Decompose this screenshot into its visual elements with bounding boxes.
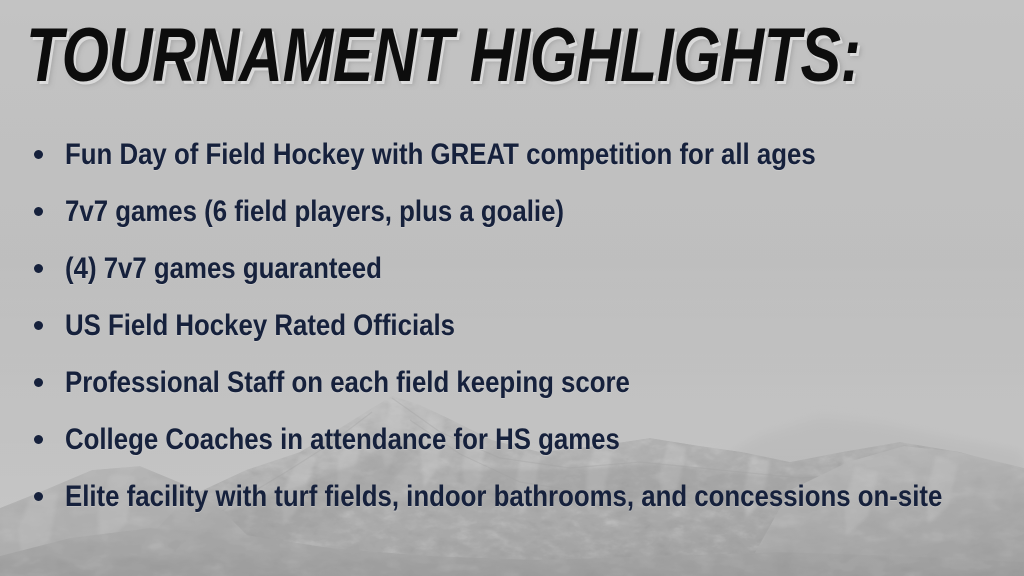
bullet-dot-icon xyxy=(34,150,43,159)
list-item-label: College Coaches in attendance for HS gam… xyxy=(65,424,620,456)
list-item: US Field Hockey Rated Officials xyxy=(34,297,994,354)
slide-content: TOURNAMENT HIGHLIGHTS: Fun Day of Field … xyxy=(0,0,1024,576)
list-item: (4) 7v7 games guaranteed xyxy=(34,240,994,297)
page-title: TOURNAMENT HIGHLIGHTS: xyxy=(26,18,860,94)
list-item-label: Professional Staff on each field keeping… xyxy=(65,367,630,399)
list-item: Fun Day of Field Hockey with GREAT compe… xyxy=(34,126,994,183)
list-item-label: (4) 7v7 games guaranteed xyxy=(65,253,382,285)
slide-canvas: TOURNAMENT HIGHLIGHTS: Fun Day of Field … xyxy=(0,0,1024,576)
bullet-dot-icon xyxy=(34,378,43,387)
bullet-dot-icon xyxy=(34,321,43,330)
list-item-label: Fun Day of Field Hockey with GREAT compe… xyxy=(65,139,816,171)
bullet-dot-icon xyxy=(34,264,43,273)
list-item: College Coaches in attendance for HS gam… xyxy=(34,411,994,468)
bullet-dot-icon xyxy=(34,435,43,444)
list-item-label: 7v7 games (6 field players, plus a goali… xyxy=(65,196,564,228)
list-item: Professional Staff on each field keeping… xyxy=(34,354,994,411)
list-item: Elite facility with turf fields, indoor … xyxy=(34,468,994,525)
bullet-dot-icon xyxy=(34,207,43,216)
list-item: 7v7 games (6 field players, plus a goali… xyxy=(34,183,994,240)
list-item-label: Elite facility with turf fields, indoor … xyxy=(65,481,942,513)
bullet-dot-icon xyxy=(34,492,43,501)
highlights-list: Fun Day of Field Hockey with GREAT compe… xyxy=(34,126,994,525)
list-item-label: US Field Hockey Rated Officials xyxy=(65,310,455,342)
